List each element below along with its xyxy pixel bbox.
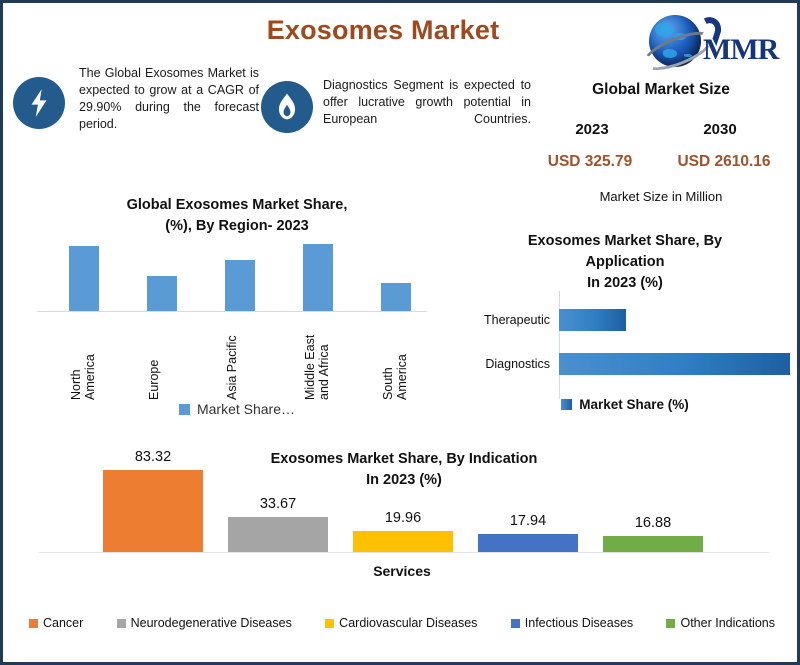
indication-value-label: 33.67 xyxy=(260,496,296,512)
application-bar-wrap-therapeutic xyxy=(559,303,799,337)
indication-value-label: 19.96 xyxy=(385,510,421,526)
legend-label: Infectious Diseases xyxy=(525,616,633,630)
region-tick-label: South America xyxy=(381,315,411,400)
application-chart-title-line1: Exosomes Market Share, By xyxy=(451,231,799,252)
callout-cagr: The Global Exosomes Market is expected t… xyxy=(11,65,261,145)
chart-application-market-share: Exosomes Market Share, By Application In… xyxy=(451,231,799,421)
callout-diagnostics: Diagnostics Segment is expected to offer… xyxy=(261,65,533,145)
indication-bar xyxy=(478,534,578,552)
indication-x-axis-label: Services xyxy=(9,563,795,579)
market-size-year-2030: 2030 xyxy=(665,121,775,138)
region-x-axis xyxy=(37,311,427,312)
legend-label: Other Indications xyxy=(680,616,775,630)
region-plot-area xyxy=(45,241,435,311)
indication-column: 33.67 xyxy=(228,435,328,552)
application-bar-wrap-diagnostics xyxy=(559,347,799,381)
region-tick-label: Asia Pacific xyxy=(225,315,255,400)
region-legend-swatch xyxy=(179,404,190,415)
application-chart-title-line3: In 2023 (%) xyxy=(451,273,799,294)
market-size-year-2023: 2023 xyxy=(537,121,647,138)
application-plot-area: Therapeutic Diagnostics xyxy=(451,303,799,385)
indication-column: 16.88 xyxy=(603,435,703,552)
indication-column: 17.94 xyxy=(478,435,578,552)
indication-value-label: 17.94 xyxy=(510,513,546,529)
legend-item: Infectious Diseases xyxy=(511,616,633,630)
callout-cagr-text: The Global Exosomes Market is expected t… xyxy=(79,65,259,133)
region-chart-title-line2: (%), By Region- 2023 xyxy=(37,216,437,237)
indication-bar xyxy=(103,470,203,552)
region-bar xyxy=(381,283,411,311)
region-legend: Market Share… xyxy=(37,401,437,417)
legend-item: Other Indications xyxy=(666,616,775,630)
application-bar-diagnostics xyxy=(559,353,790,375)
market-size-heading: Global Market Size xyxy=(523,81,799,99)
indication-plot-area: 83.3233.6719.9617.9416.88 xyxy=(103,435,703,552)
indication-bar xyxy=(603,536,703,552)
region-tick-label: Europe xyxy=(147,315,177,400)
application-bar-therapeutic xyxy=(559,309,626,331)
application-row-therapeutic: Therapeutic xyxy=(451,303,799,337)
indication-bar xyxy=(353,531,453,552)
region-tick-label: North America xyxy=(69,315,99,400)
legend-swatch xyxy=(29,619,38,628)
legend-label: Cardiovascular Diseases xyxy=(339,616,477,630)
region-bar xyxy=(147,276,177,311)
market-size-value-2030: USD 2610.16 xyxy=(659,153,789,171)
page-title: Exosomes Market xyxy=(153,15,613,46)
indication-legend: CancerNeurodegenerative DiseasesCardiova… xyxy=(11,611,793,635)
region-bar xyxy=(303,244,333,311)
region-legend-label: Market Share… xyxy=(197,401,295,417)
market-size-unit: Market Size in Million xyxy=(523,189,799,204)
flame-icon xyxy=(261,81,313,133)
application-category-diagnostics: Diagnostics xyxy=(451,357,559,371)
indication-bar xyxy=(228,517,328,552)
chart-region-market-share: Global Exosomes Market Share, (%), By Re… xyxy=(37,193,437,433)
indication-column: 83.32 xyxy=(103,435,203,552)
indication-value-label: 16.88 xyxy=(635,515,671,531)
region-chart-title-line1: Global Exosomes Market Share, xyxy=(37,195,437,216)
market-size-value-2023: USD 325.79 xyxy=(525,153,655,171)
lightning-bolt-icon xyxy=(13,77,65,129)
application-legend: Market Share (%) xyxy=(451,397,799,412)
region-tick-labels: North AmericaEuropeAsia PacificMiddle Ea… xyxy=(45,315,435,400)
logo-text: MMR xyxy=(703,33,778,67)
application-legend-swatch xyxy=(561,399,572,410)
application-category-therapeutic: Therapeutic xyxy=(451,313,559,327)
legend-label: Neurodegenerative Diseases xyxy=(131,616,292,630)
legend-item: Neurodegenerative Diseases xyxy=(117,616,292,630)
infographic-poster: Exosomes Market MMR The Global Exosomes … xyxy=(0,0,800,665)
legend-swatch xyxy=(117,619,126,628)
chart-indication-market-share: Exosomes Market Share, By Indication In … xyxy=(9,435,795,600)
application-chart-title: Exosomes Market Share, By Application In… xyxy=(451,231,799,294)
legend-label: Cancer xyxy=(43,616,83,630)
indication-column: 19.96 xyxy=(353,435,453,552)
indication-value-label: 83.32 xyxy=(135,449,171,465)
region-tick-label: Middle East and Africa xyxy=(303,315,333,400)
region-bar xyxy=(69,246,99,311)
legend-swatch xyxy=(325,619,334,628)
region-chart-title: Global Exosomes Market Share, (%), By Re… xyxy=(37,195,437,237)
application-row-diagnostics: Diagnostics xyxy=(451,347,799,381)
application-chart-title-line2: Application xyxy=(451,252,799,273)
region-bar xyxy=(225,260,255,311)
application-legend-label: Market Share (%) xyxy=(579,397,689,412)
region-bars xyxy=(45,241,435,311)
mmr-logo: MMR xyxy=(641,11,796,73)
legend-swatch xyxy=(666,619,675,628)
global-market-size-panel: Global Market Size 2023 2030 USD 325.79 … xyxy=(523,81,799,211)
indication-x-axis xyxy=(39,552,769,553)
legend-item: Cancer xyxy=(29,616,83,630)
callout-diagnostics-text: Diagnostics Segment is expected to offer… xyxy=(323,77,531,128)
legend-swatch xyxy=(511,619,520,628)
legend-item: Cardiovascular Diseases xyxy=(325,616,477,630)
